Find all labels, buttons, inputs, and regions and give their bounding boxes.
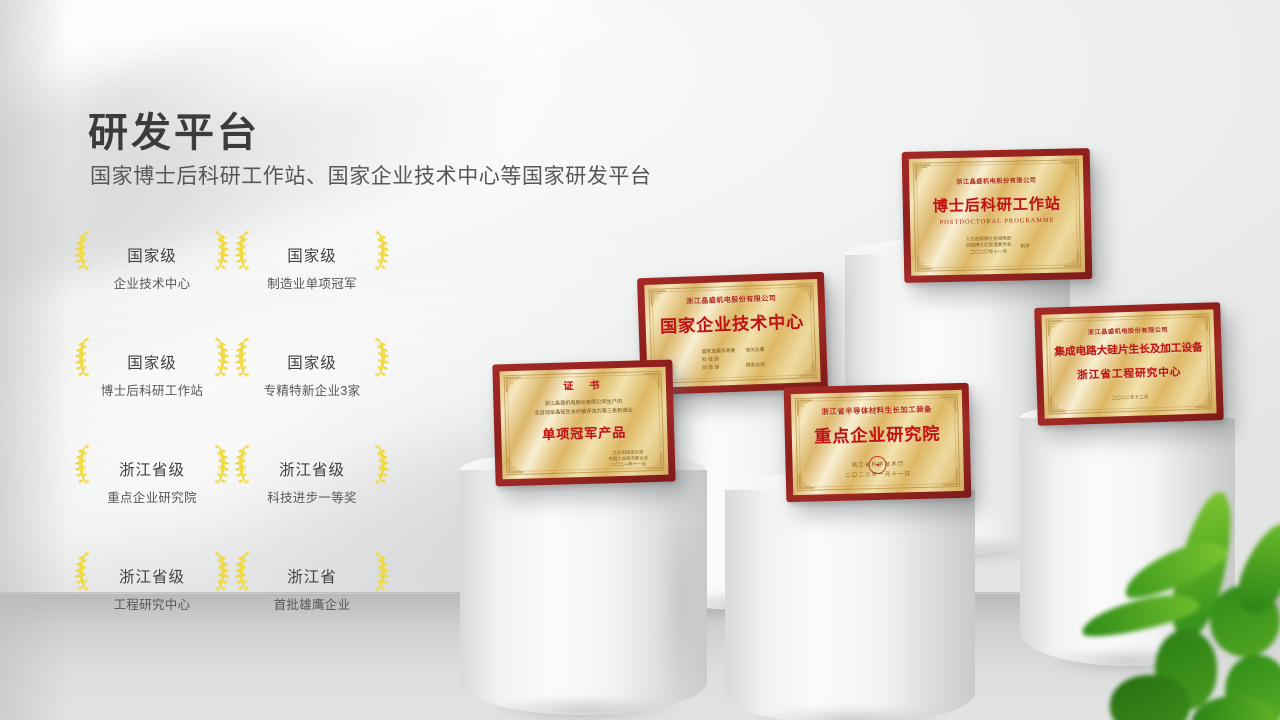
plaque-content: 证 书 浙江晶盛机电股份有限公司生产的 全自动单晶硅生长炉被评选为第三批制造业 … bbox=[500, 367, 669, 480]
plaque-zhejiang-engineering-research-center[interactable]: 浙江晶盛机电股份有限公司 集成电路大硅片生长及加工设备 浙江省工程研究中心 二〇… bbox=[1034, 302, 1224, 426]
award-item-engineering-research-center[interactable]: 浙江省级 工程研究中心 bbox=[72, 543, 232, 635]
plaque-single-champion-product[interactable]: 证 书 浙江晶盛机电股份有限公司生产的 全自动单晶硅生长炉被评选为第三批制造业 … bbox=[492, 360, 675, 487]
laurel-wreath-icon bbox=[74, 442, 96, 488]
award-level: 国家级 bbox=[127, 351, 177, 373]
plaque-company-line: 浙江晶盛机电股份有限公司 bbox=[686, 294, 776, 307]
award-name: 科技进步一等奖 bbox=[267, 487, 357, 506]
award-level: 国家级 bbox=[287, 244, 337, 266]
plaque-main-title: 集成电路大硅片生长及加工设备 bbox=[1054, 340, 1203, 360]
award-level: 浙江省 bbox=[287, 565, 337, 587]
podium-front-left bbox=[460, 470, 707, 715]
plaque-company-line: 浙江省半导体材料生长加工装备 bbox=[821, 403, 932, 417]
laurel-wreath-icon bbox=[368, 442, 390, 488]
plaque-main-title: 国家企业技术中心 bbox=[660, 308, 805, 338]
award-row: 国家级 博士后科研工作站 国家级 专精特新企业3家 bbox=[72, 329, 412, 421]
plaque-issuer-date: 二〇二〇年十一月 bbox=[966, 248, 1012, 255]
laurel-wreath-icon bbox=[234, 335, 256, 381]
award-name: 制造业单项冠军 bbox=[267, 273, 357, 292]
award-row: 浙江省级 工程研究中心 浙江省 首批雄鹰企业 bbox=[72, 543, 412, 635]
award-item-first-batch-eagle-enterprise[interactable]: 浙江省 首批雄鹰企业 bbox=[232, 543, 392, 635]
plaque-issuer-mark: 制发 bbox=[1020, 243, 1029, 254]
award-name: 企业技术中心 bbox=[114, 273, 191, 292]
laurel-wreath-icon bbox=[368, 335, 390, 381]
laurel-wreath-icon bbox=[74, 549, 96, 595]
plaque-company-line: 浙江晶盛机电股份有限公司 bbox=[956, 175, 1036, 186]
plaque-main-title: 重点企业研究院 bbox=[814, 419, 941, 447]
award-item-key-enterprise-research-institute[interactable]: 浙江省级 重点企业研究院 bbox=[72, 436, 232, 528]
laurel-wreath-icon bbox=[234, 442, 256, 488]
plaque-issuer-line: 财 政 部 bbox=[702, 364, 736, 373]
podium-front-center bbox=[725, 490, 975, 720]
award-list: 国家级 企业技术中心 国家级 制造业单项冠军 bbox=[72, 222, 412, 635]
decorative-plant bbox=[1060, 480, 1280, 720]
award-name: 专精特新企业3家 bbox=[264, 380, 361, 399]
page-subtitle: 国家博士后科研工作站、国家企业技术中心等国家研发平台 bbox=[90, 160, 652, 190]
page-title: 研发平台 bbox=[88, 100, 260, 158]
award-level: 国家级 bbox=[287, 351, 337, 373]
left-vignette bbox=[0, 0, 70, 720]
laurel-wreath-icon bbox=[208, 228, 230, 274]
podium-body bbox=[725, 490, 975, 720]
laurel-wreath-icon bbox=[368, 549, 390, 595]
plaque-issuer-line: 海关总署 bbox=[745, 347, 764, 355]
plaque-face: 浙江晶盛机电股份有限公司 博士后科研工作站 POSTDOCTORAL PROGR… bbox=[909, 155, 1085, 276]
award-item-manufacturing-single-champion[interactable]: 国家级 制造业单项冠军 bbox=[232, 222, 392, 314]
award-row: 国家级 企业技术中心 国家级 制造业单项冠军 bbox=[72, 222, 412, 314]
laurel-wreath-icon bbox=[234, 228, 256, 274]
podium-contact-shadow bbox=[450, 697, 717, 720]
award-item-specialized-new-enterprises[interactable]: 国家级 专精特新企业3家 bbox=[232, 329, 392, 421]
plaque-content: 浙江晶盛机电股份有限公司 集成电路大硅片生长及加工设备 浙江省工程研究中心 二〇… bbox=[1041, 309, 1216, 418]
award-name: 博士后科研工作站 bbox=[101, 380, 203, 399]
podium-shadow bbox=[673, 485, 733, 715]
award-name: 重点企业研究院 bbox=[107, 487, 197, 506]
award-row: 浙江省级 重点企业研究院 浙江省级 科技进步一等奖 bbox=[72, 436, 412, 528]
plaque-postdoctoral[interactable]: 浙江晶盛机电股份有限公司 博士后科研工作站 POSTDOCTORAL PROGR… bbox=[902, 148, 1093, 283]
award-level: 国家级 bbox=[127, 244, 177, 266]
plaque-heading: 证 书 bbox=[563, 376, 602, 392]
plaque-issuer-date: 二〇二一年十一月 bbox=[609, 461, 649, 468]
award-name: 首批雄鹰企业 bbox=[274, 594, 351, 613]
award-level: 浙江省级 bbox=[279, 458, 345, 480]
plaque-issuer-line: 税务总局 bbox=[746, 362, 765, 370]
plaque-body-line: 全自动单晶硅生长炉被评选为第三批制造业 bbox=[534, 407, 633, 419]
plaque-face: 浙江省半导体材料生长加工装备 重点企业研究院 浙江省科学技术厅 二〇二三年一月十… bbox=[791, 390, 964, 495]
plaque-main-title-second: 浙江省工程研究中心 bbox=[1077, 365, 1182, 383]
award-level: 浙江省级 bbox=[119, 565, 185, 587]
laurel-wreath-icon bbox=[74, 335, 96, 381]
plaque-content: 浙江省半导体材料生长加工装备 重点企业研究院 浙江省科学技术厅 二〇二三年一月十… bbox=[791, 390, 964, 495]
plaque-issuer-date: 二〇二二年十二月 bbox=[1112, 395, 1149, 402]
award-level: 浙江省级 bbox=[119, 458, 185, 480]
plaque-content: 浙江晶盛机电股份有限公司 博士后科研工作站 POSTDOCTORAL PROGR… bbox=[909, 155, 1085, 276]
laurel-wreath-icon bbox=[208, 549, 230, 595]
laurel-wreath-icon bbox=[208, 335, 230, 381]
award-item-national-enterprise-tech-center[interactable]: 国家级 企业技术中心 bbox=[72, 222, 232, 314]
award-item-science-technology-progress-first-prize[interactable]: 浙江省级 科技进步一等奖 bbox=[232, 436, 392, 528]
plaque-face: 浙江晶盛机电股份有限公司 集成电路大硅片生长及加工设备 浙江省工程研究中心 二〇… bbox=[1041, 309, 1216, 418]
award-name: 工程研究中心 bbox=[114, 594, 191, 613]
laurel-wreath-icon bbox=[368, 228, 390, 274]
plaque-main-title: 单项冠军产品 bbox=[542, 422, 627, 443]
laurel-wreath-icon bbox=[234, 549, 256, 595]
award-item-postdoctoral-workstation[interactable]: 国家级 博士后科研工作站 bbox=[72, 329, 232, 421]
podium-contact-shadow bbox=[715, 707, 985, 720]
plaque-face: 证 书 浙江晶盛机电股份有限公司生产的 全自动单晶硅生长炉被评选为第三批制造业 … bbox=[500, 367, 669, 480]
podium-body bbox=[460, 470, 707, 715]
plaque-main-title: 博士后科研工作站 bbox=[933, 193, 1061, 217]
scene-stage: 浙江晶盛机电股份有限公司 博士后科研工作站 POSTDOCTORAL PROGR… bbox=[0, 0, 1280, 720]
plaque-company-line: 浙江晶盛机电股份有限公司 bbox=[1088, 325, 1168, 337]
plaque-english-title: POSTDOCTORAL PROGRAMME bbox=[940, 217, 1055, 226]
laurel-wreath-icon bbox=[208, 442, 230, 488]
plaque-key-enterprise-research-institute[interactable]: 浙江省半导体材料生长加工装备 重点企业研究院 浙江省科学技术厅 二〇二三年一月十… bbox=[784, 383, 972, 502]
laurel-wreath-icon bbox=[74, 228, 96, 274]
